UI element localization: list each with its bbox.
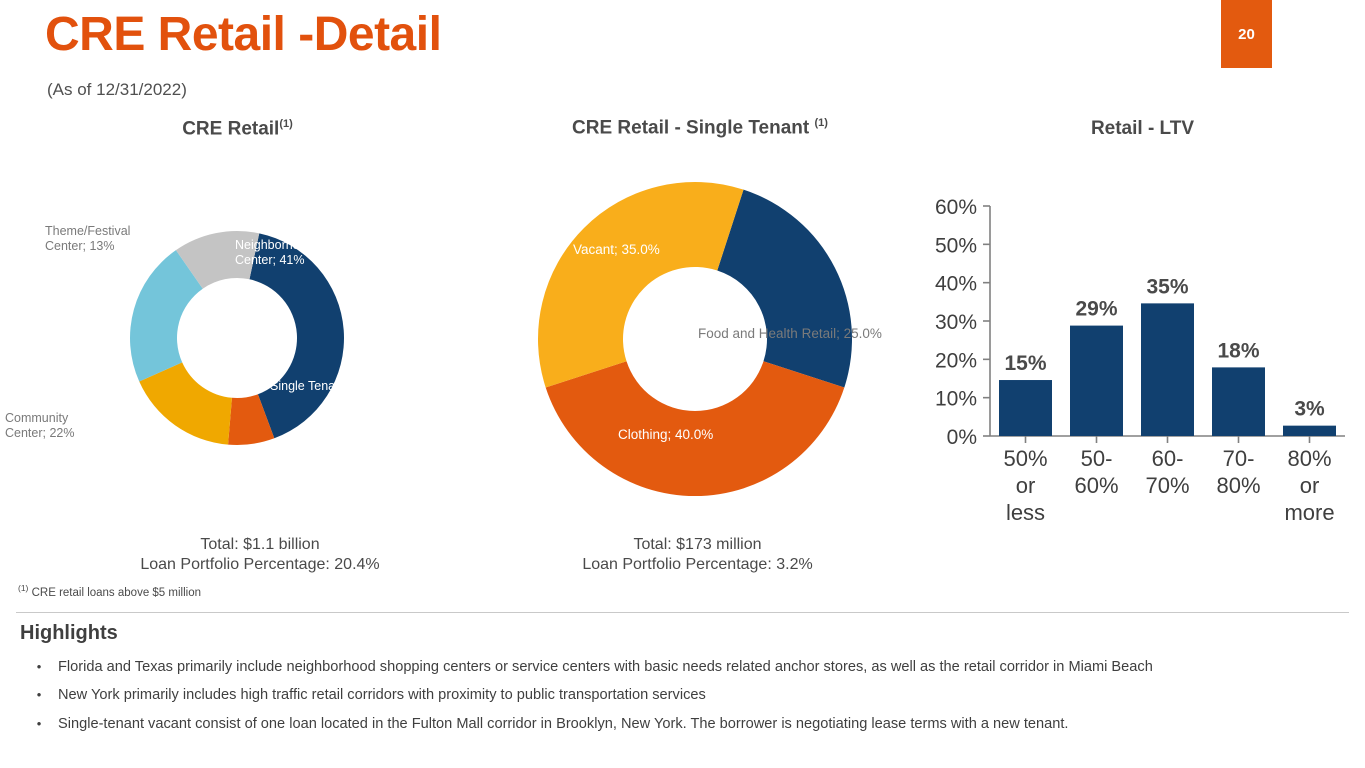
x-axis-tick-label: less: [1006, 500, 1045, 525]
donut-segment-label: Community Center; 22%: [5, 411, 115, 442]
x-axis-tick-label: or: [1300, 473, 1320, 498]
donut-chart-cre-retail-svg: [130, 231, 344, 445]
donut-segment: [717, 190, 852, 388]
bar: [1283, 426, 1336, 436]
footnote-marker-1: (1): [279, 118, 292, 130]
bar: [1141, 303, 1194, 436]
footnote: (1) CRE retail loans above $5 million: [18, 583, 201, 599]
highlight-text: Single-tenant vacant consist of one loan…: [58, 715, 1340, 734]
totals-cre-retail: Total: $1.1 billion Loan Portfolio Perce…: [75, 535, 445, 574]
bar: [1070, 326, 1123, 436]
donut-segment: [538, 182, 744, 388]
section-divider: [16, 612, 1349, 613]
x-axis-tick-label: 70-: [1223, 446, 1255, 471]
bar-chart-retail-ltv-svg: 0%10%20%30%40%50%60%15%50%orless29%50-60…: [900, 185, 1355, 525]
chart-title-cre-retail-text: CRE Retail: [182, 118, 279, 139]
y-axis-tick-label: 10%: [935, 388, 977, 411]
bar-value-label: 35%: [1146, 275, 1188, 298]
footnote-sup: (1): [18, 583, 28, 593]
page-title: CRE Retail -Detail: [45, 9, 441, 62]
x-axis-tick-label: 70%: [1145, 473, 1189, 498]
bar-value-label: 15%: [1004, 352, 1046, 375]
bar-value-label: 3%: [1294, 398, 1325, 421]
highlight-bullet: •Single-tenant vacant consist of one loa…: [20, 715, 1340, 734]
highlight-bullet: •New York primarily includes high traffi…: [20, 686, 1340, 705]
chart-title-cre-retail: CRE Retail(1): [0, 118, 475, 140]
page-number-badge: 20: [1221, 0, 1272, 68]
y-axis-tick-label: 60%: [935, 196, 977, 219]
donut-chart-single-tenant-svg: [538, 182, 852, 496]
x-axis-tick-label: 50-: [1081, 446, 1113, 471]
footnote-text: CRE retail loans above $5 million: [32, 587, 201, 599]
y-axis-tick-label: 40%: [935, 273, 977, 296]
bullet-marker: •: [20, 658, 58, 675]
slide: 20 CRE Retail -Detail (As of 12/31/2022)…: [0, 0, 1365, 768]
donut-segment: [249, 233, 344, 438]
bullet-marker: •: [20, 686, 58, 703]
footnote-marker-2: (1): [815, 117, 828, 129]
totals-single-tenant: Total: $173 million Loan Portfolio Perce…: [510, 535, 885, 574]
highlights-heading: Highlights: [20, 622, 118, 645]
donut-segment: [546, 361, 845, 496]
chart-title-single-tenant-text: CRE Retail - Single Tenant: [572, 117, 809, 138]
x-axis-tick-label: 50%: [1003, 446, 1047, 471]
highlight-bullet: •Florida and Texas primarily include nei…: [20, 658, 1340, 677]
chart-title-single-tenant: CRE Retail - Single Tenant (1): [460, 117, 940, 139]
highlights-list: •Florida and Texas primarily include nei…: [20, 658, 1340, 743]
y-axis-tick-label: 0%: [947, 426, 977, 449]
y-axis-tick-label: 20%: [935, 349, 977, 372]
highlight-text: New York primarily includes high traffic…: [58, 686, 1340, 705]
page-number-text: 20: [1238, 26, 1255, 43]
x-axis-tick-label: 60%: [1074, 473, 1118, 498]
donut-chart-cre-retail: Neighborhood Center; 41%Single Tenant; 7…: [130, 231, 344, 445]
as-of-date: (As of 12/31/2022): [47, 80, 187, 100]
x-axis-tick-label: 80%: [1287, 446, 1331, 471]
bar-value-label: 18%: [1217, 339, 1259, 362]
bar-chart-retail-ltv: 0%10%20%30%40%50%60%15%50%orless29%50-60…: [900, 185, 1355, 525]
x-axis-tick-label: 80%: [1216, 473, 1260, 498]
bar-value-label: 29%: [1075, 298, 1117, 321]
x-axis-tick-label: more: [1284, 500, 1334, 525]
donut-chart-single-tenant: Food and Health Retail; 25.0%Clothing; 4…: [538, 182, 852, 496]
donut-segment-label: Strip/Convenience; 17%: [178, 447, 348, 462]
y-axis-tick-label: 30%: [935, 311, 977, 334]
chart-title-retail-ltv: Retail - LTV: [960, 118, 1325, 140]
bar: [1212, 367, 1265, 436]
bullet-marker: •: [20, 715, 58, 732]
x-axis-tick-label: 60-: [1152, 446, 1184, 471]
highlight-text: Florida and Texas primarily include neig…: [58, 658, 1340, 677]
x-axis-tick-label: or: [1016, 473, 1036, 498]
y-axis-tick-label: 50%: [935, 234, 977, 257]
bar: [999, 380, 1052, 436]
